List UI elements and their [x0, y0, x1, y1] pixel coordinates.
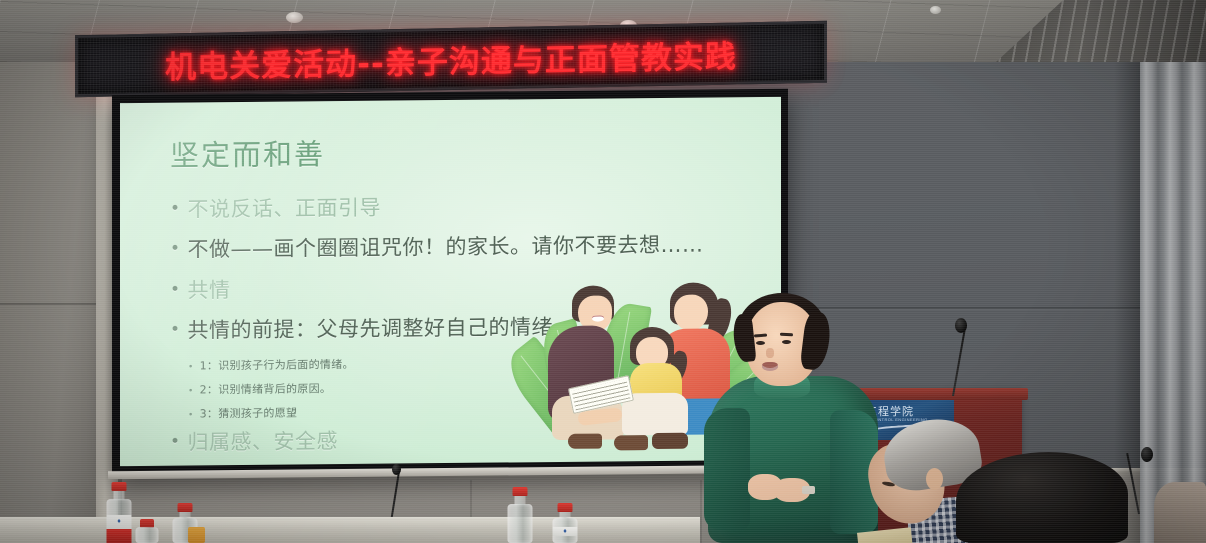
father-shoe	[568, 434, 602, 449]
microphone-icon[interactable]	[955, 318, 967, 333]
far-attendee-shoulder	[1154, 482, 1206, 543]
bullet-dot-icon: •	[170, 317, 181, 342]
bottle-cap	[178, 503, 193, 512]
projection-screen: 坚定而和善 • 不说反话、正面引导 • 不做——画个圈圈诅咒你！的家长。请你不要…	[120, 97, 781, 466]
presenter-nose	[766, 348, 774, 358]
subbullet-dot-icon: •	[188, 387, 194, 397]
water-bottle[interactable]: ♦	[104, 482, 134, 543]
attendee-dark-hair	[956, 452, 1128, 543]
child-shoe-right	[652, 433, 688, 449]
seated-man-ear	[926, 468, 943, 490]
bottle-cap	[558, 503, 573, 512]
presenter-watch	[802, 486, 815, 494]
subbullet-dot-icon: •	[188, 411, 194, 421]
bullet-dot-icon: •	[170, 430, 181, 455]
bullet-dot-icon: •	[170, 237, 181, 262]
water-bottle[interactable]	[505, 487, 535, 543]
child-shoe-left	[614, 435, 648, 450]
slide-subbullet-text: 1：识别孩子行为后面的情绪。	[200, 356, 354, 373]
bottle-body	[136, 527, 159, 543]
water-bottle[interactable]	[133, 519, 161, 543]
bottle-label-red	[107, 529, 132, 543]
presenter-left-arm	[704, 408, 750, 530]
conference-room-photo: 机电关爱活动--亲子沟通与正面管教实践 坚定而和善 • 不说反话、正面引导 • …	[0, 0, 1206, 543]
slide-bullet-text: 共情的前提：父母先调整好自己的情绪	[188, 314, 554, 345]
bottle-label-emblem: ♦	[117, 518, 121, 525]
subbullet-dot-icon: •	[188, 363, 194, 373]
water-bottle[interactable]: ♦	[550, 503, 580, 543]
slide-bullet: • 不说反话、正面引导	[170, 191, 761, 224]
ceiling-light-icon	[930, 6, 941, 14]
bottle-cap	[112, 482, 127, 491]
window-curtain	[1140, 58, 1206, 543]
bullet-dot-icon: •	[170, 277, 181, 302]
bullet-dot-icon: •	[170, 197, 181, 222]
slide-bullet-text: 不做——画个圈圈诅咒你！的家长。请你不要去想……	[188, 232, 704, 264]
microphone-icon[interactable]	[1141, 447, 1153, 462]
slide-bullet-text: 不说反话、正面引导	[188, 195, 382, 224]
bottle-body	[508, 504, 533, 543]
bottle-label-emblem: ♦	[563, 528, 567, 535]
ceiling-light-icon	[286, 12, 303, 23]
slide-bullet-text: 归属感、安全感	[188, 428, 339, 457]
microphone-icon[interactable]	[392, 464, 401, 475]
presenter-mouth	[762, 362, 778, 371]
presenter-figure	[702, 296, 880, 543]
paper-document	[857, 527, 913, 543]
left-wall-seam	[0, 303, 96, 305]
curtain-shadow	[1114, 58, 1140, 543]
presenter-eye-left	[756, 341, 765, 345]
slide-title: 坚定而和善	[170, 127, 761, 175]
projection-screen-frame: 坚定而和善 • 不说反话、正面引导 • 不做——画个圈圈诅咒你！的家长。请你不要…	[112, 89, 788, 476]
paper-cup[interactable]	[188, 527, 205, 543]
slide-subbullet-text: 2：识别情绪背后的原因。	[200, 380, 332, 397]
slide-subbullet-text: 3：猜测孩子的愿望	[200, 405, 298, 422]
slide-bullet-text: 共情	[188, 277, 231, 305]
bottle-cap	[513, 487, 528, 496]
slide-bullet: • 不做——画个圈圈诅咒你！的家长。请你不要去想……	[170, 231, 761, 264]
presenter-eye-right	[782, 340, 791, 344]
